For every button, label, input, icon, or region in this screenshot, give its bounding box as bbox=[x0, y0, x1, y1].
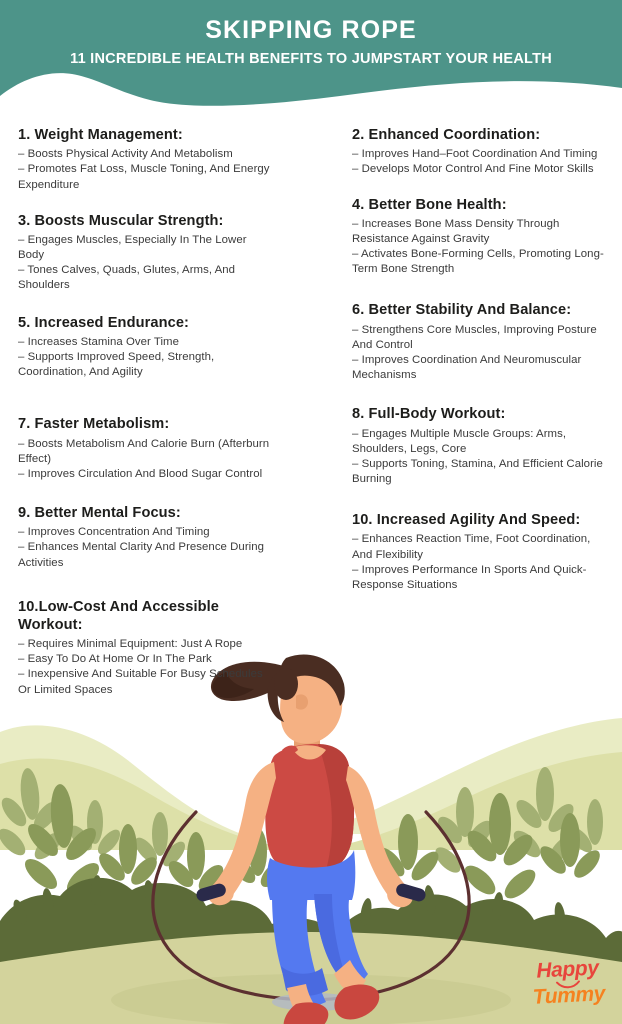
benefit-title: 4. Better Bone Health: bbox=[352, 196, 610, 214]
benefit-item-9: 9. Better Mental Focus: – Improves Conce… bbox=[18, 504, 270, 571]
benefit-line: – Improves Performance In Sports And Qui… bbox=[352, 563, 610, 593]
benefit-line: – Engages Muscles, Especially In The Low… bbox=[18, 233, 270, 263]
benefit-lines: – Boosts Physical Activity And Metabolis… bbox=[18, 147, 270, 192]
benefit-lines: – Improves Concentration And Timing – En… bbox=[18, 525, 270, 570]
benefits-column-right: 2. Enhanced Coordination: – Improves Han… bbox=[352, 126, 610, 609]
benefit-line: – Boosts Metabolism And Calorie Burn (Af… bbox=[18, 437, 270, 467]
benefits-column-left: 1. Weight Management: – Boosts Physical … bbox=[18, 126, 270, 714]
benefit-line: – Engages Multiple Muscle Groups: Arms, … bbox=[352, 427, 610, 457]
benefit-item-2: 2. Enhanced Coordination: – Improves Han… bbox=[352, 126, 610, 178]
benefit-lines: – Improves Hand–Foot Coordination And Ti… bbox=[352, 147, 610, 177]
benefit-line: – Improves Hand–Foot Coordination And Ti… bbox=[352, 147, 610, 162]
benefit-item-8: 8. Full-Body Workout: – Engages Multiple… bbox=[352, 405, 610, 487]
benefit-item-11: 10.Low-Cost And Accessible Workout: – Re… bbox=[18, 598, 270, 698]
benefit-lines: – Strengthens Core Muscles, Improving Po… bbox=[352, 323, 610, 384]
benefit-item-10: 10. Increased Agility And Speed: – Enhan… bbox=[352, 511, 610, 593]
benefit-title: 9. Better Mental Focus: bbox=[18, 504, 270, 522]
page-subtitle: 11 INCREDIBLE HEALTH BENEFITS TO JUMPSTA… bbox=[0, 45, 622, 68]
benefit-lines: – Engages Multiple Muscle Groups: Arms, … bbox=[352, 427, 610, 488]
benefit-lines: – Enhances Reaction Time, Foot Coordinat… bbox=[352, 532, 610, 593]
benefit-line: – Enhances Mental Clarity And Presence D… bbox=[18, 540, 270, 570]
benefit-line: – Promotes Fat Loss, Muscle Toning, And … bbox=[18, 162, 270, 192]
benefit-title: 1. Weight Management: bbox=[18, 126, 270, 144]
benefit-lines: – Requires Minimal Equipment: Just A Rop… bbox=[18, 637, 270, 698]
benefit-lines: – Boosts Metabolism And Calorie Burn (Af… bbox=[18, 437, 270, 482]
benefit-title: 10. Increased Agility And Speed: bbox=[352, 511, 610, 529]
benefit-lines: – Increases Stamina Over Time – Supports… bbox=[18, 335, 270, 380]
benefit-title: 10.Low-Cost And Accessible Workout: bbox=[18, 598, 270, 634]
benefit-line: – Develops Motor Control And Fine Motor … bbox=[352, 162, 610, 177]
infographic-page: SKIPPING ROPE 11 INCREDIBLE HEALTH BENEF… bbox=[0, 0, 622, 1024]
benefit-line: – Strengthens Core Muscles, Improving Po… bbox=[352, 323, 610, 353]
benefit-item-5: 5. Increased Endurance: – Increases Stam… bbox=[18, 314, 270, 381]
benefit-item-6: 6. Better Stability And Balance: – Stren… bbox=[352, 301, 610, 383]
page-title: SKIPPING ROPE bbox=[0, 0, 622, 45]
happy-tummy-logo: Happy Tummy bbox=[531, 957, 606, 1008]
benefit-item-7: 7. Faster Metabolism: – Boosts Metabolis… bbox=[18, 415, 270, 482]
benefit-line: – Inexpensive And Suitable For Busy Sche… bbox=[18, 667, 270, 697]
benefit-line: – Tones Calves, Quads, Glutes, Arms, And… bbox=[18, 263, 270, 293]
benefit-line: – Improves Circulation And Blood Sugar C… bbox=[18, 467, 270, 482]
benefit-item-3: 3. Boosts Muscular Strength: – Engages M… bbox=[18, 212, 270, 294]
benefit-line: – Supports Toning, Stamina, And Efficien… bbox=[352, 457, 610, 487]
logo-line-tummy: Tummy bbox=[532, 983, 605, 1008]
benefit-line: – Increases Bone Mass Density Through Re… bbox=[352, 217, 610, 247]
benefit-line: – Boosts Physical Activity And Metabolis… bbox=[18, 147, 270, 162]
benefit-line: – Requires Minimal Equipment: Just A Rop… bbox=[18, 637, 270, 652]
benefit-title: 3. Boosts Muscular Strength: bbox=[18, 212, 270, 230]
benefit-line: – Easy To Do At Home Or In The Park bbox=[18, 652, 270, 667]
benefit-line: – Improves Concentration And Timing bbox=[18, 525, 270, 540]
benefit-line: – Activates Bone-Forming Cells, Promotin… bbox=[352, 247, 610, 277]
benefit-lines: – Increases Bone Mass Density Through Re… bbox=[352, 217, 610, 278]
benefit-line: – Supports Improved Speed, Strength, Coo… bbox=[18, 350, 270, 380]
benefit-title: 8. Full-Body Workout: bbox=[352, 405, 610, 423]
benefit-title: 7. Faster Metabolism: bbox=[18, 415, 270, 433]
benefit-line: – Enhances Reaction Time, Foot Coordinat… bbox=[352, 532, 610, 562]
benefit-title: 5. Increased Endurance: bbox=[18, 314, 270, 332]
benefit-item-4: 4. Better Bone Health: – Increases Bone … bbox=[352, 196, 610, 278]
benefit-item-1: 1. Weight Management: – Boosts Physical … bbox=[18, 126, 270, 193]
benefit-title: 2. Enhanced Coordination: bbox=[352, 126, 610, 144]
benefit-title: 6. Better Stability And Balance: bbox=[352, 301, 610, 319]
header-banner: SKIPPING ROPE 11 INCREDIBLE HEALTH BENEF… bbox=[0, 0, 622, 118]
benefit-line: – Improves Coordination And Neuromuscula… bbox=[352, 353, 610, 383]
benefit-lines: – Engages Muscles, Especially In The Low… bbox=[18, 233, 270, 294]
benefit-line: – Increases Stamina Over Time bbox=[18, 335, 270, 350]
